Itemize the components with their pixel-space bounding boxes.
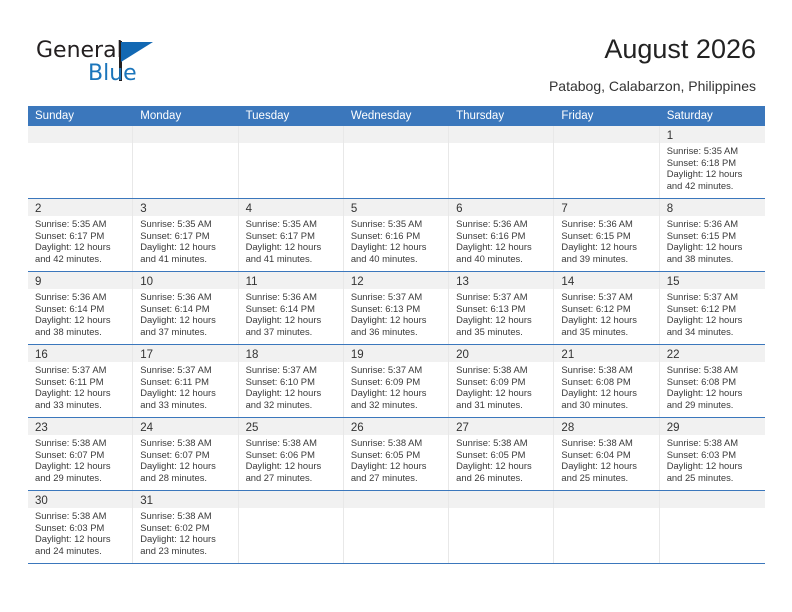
daylight-text: Daylight: 12 hours and 24 minutes. [35,533,127,556]
daylight-text: Daylight: 12 hours and 23 minutes. [140,533,232,556]
sunrise-text: Sunrise: 5:36 AM [561,218,653,230]
sunset-text: Sunset: 6:06 PM [246,449,338,461]
day-details: Sunrise: 5:38 AMSunset: 6:04 PMDaylight:… [554,435,658,487]
sunset-text: Sunset: 6:17 PM [246,230,338,242]
sunrise-text: Sunrise: 5:37 AM [246,364,338,376]
calendar-empty-cell [239,491,344,563]
calendar-day-cell[interactable]: 28Sunrise: 5:38 AMSunset: 6:04 PMDayligh… [554,418,659,490]
day-number: 23 [35,422,48,434]
day-details: Sunrise: 5:35 AMSunset: 6:18 PMDaylight:… [660,143,765,195]
daylight-text: Daylight: 12 hours and 29 minutes. [35,460,127,483]
weekday-header-row: Sunday Monday Tuesday Wednesday Thursday… [28,106,765,126]
calendar-week-row: 30Sunrise: 5:38 AMSunset: 6:03 PMDayligh… [28,491,765,564]
calendar-day-cell[interactable]: 30Sunrise: 5:38 AMSunset: 6:03 PMDayligh… [28,491,133,563]
day-details: Sunrise: 5:37 AMSunset: 6:11 PMDaylight:… [28,362,132,414]
calendar-day-cell[interactable]: 20Sunrise: 5:38 AMSunset: 6:09 PMDayligh… [449,345,554,417]
sunset-text: Sunset: 6:09 PM [456,376,548,388]
logo-text-general: General [36,38,123,63]
weekday-header-friday: Friday [554,106,659,126]
day-number: 6 [456,203,462,215]
day-number: 16 [35,349,48,361]
calendar-week-row: 2Sunrise: 5:35 AMSunset: 6:17 PMDaylight… [28,199,765,272]
sunset-text: Sunset: 6:11 PM [35,376,127,388]
sunrise-text: Sunrise: 5:38 AM [351,437,443,449]
daylight-text: Daylight: 12 hours and 32 minutes. [246,387,338,410]
general-blue-logo[interactable]: General Blue [36,38,216,90]
calendar-day-cell[interactable]: 5Sunrise: 5:35 AMSunset: 6:16 PMDaylight… [344,199,449,271]
daylight-text: Daylight: 12 hours and 35 minutes. [561,314,653,337]
day-details: Sunrise: 5:36 AMSunset: 6:14 PMDaylight:… [239,289,343,341]
sunset-text: Sunset: 6:12 PM [561,303,653,315]
day-number: 19 [351,349,364,361]
daylight-text: Daylight: 12 hours and 42 minutes. [667,168,760,191]
day-details: Sunrise: 5:36 AMSunset: 6:14 PMDaylight:… [133,289,237,341]
day-number: 12 [351,276,364,288]
daylight-text: Daylight: 12 hours and 38 minutes. [667,241,760,264]
sunrise-text: Sunrise: 5:38 AM [667,364,760,376]
day-number: 14 [561,276,574,288]
day-details: Sunrise: 5:38 AMSunset: 6:02 PMDaylight:… [133,508,237,560]
day-details: Sunrise: 5:38 AMSunset: 6:05 PMDaylight:… [344,435,448,487]
day-number-strip [239,491,343,508]
daylight-text: Daylight: 12 hours and 40 minutes. [351,241,443,264]
day-number: 15 [667,276,680,288]
day-number: 30 [35,495,48,507]
day-number: 4 [246,203,252,215]
day-number: 3 [140,203,146,215]
day-number-strip: 18 [239,345,343,362]
sunset-text: Sunset: 6:02 PM [140,522,232,534]
sunrise-text: Sunrise: 5:37 AM [667,291,760,303]
day-details: Sunrise: 5:38 AMSunset: 6:09 PMDaylight:… [449,362,553,414]
day-number-strip: 22 [660,345,765,362]
day-number-strip [554,491,658,508]
sunrise-text: Sunrise: 5:38 AM [456,437,548,449]
sunset-text: Sunset: 6:14 PM [246,303,338,315]
sunset-text: Sunset: 6:08 PM [561,376,653,388]
daylight-text: Daylight: 12 hours and 31 minutes. [456,387,548,410]
calendar-empty-cell [344,126,449,198]
day-number-strip [239,126,343,143]
day-number: 31 [140,495,153,507]
daylight-text: Daylight: 12 hours and 25 minutes. [561,460,653,483]
daylight-text: Daylight: 12 hours and 32 minutes. [351,387,443,410]
calendar-day-cell[interactable]: 23Sunrise: 5:38 AMSunset: 6:07 PMDayligh… [28,418,133,490]
day-number-strip [449,126,553,143]
calendar-day-cell[interactable]: 3Sunrise: 5:35 AMSunset: 6:17 PMDaylight… [133,199,238,271]
sunset-text: Sunset: 6:12 PM [667,303,760,315]
calendar-day-cell[interactable]: 12Sunrise: 5:37 AMSunset: 6:13 PMDayligh… [344,272,449,344]
sunset-text: Sunset: 6:04 PM [561,449,653,461]
day-details: Sunrise: 5:38 AMSunset: 6:07 PMDaylight:… [28,435,132,487]
daylight-text: Daylight: 12 hours and 41 minutes. [140,241,232,264]
sunrise-text: Sunrise: 5:38 AM [561,437,653,449]
sunset-text: Sunset: 6:11 PM [140,376,232,388]
daylight-text: Daylight: 12 hours and 40 minutes. [456,241,548,264]
sunset-text: Sunset: 6:03 PM [35,522,127,534]
sunrise-text: Sunrise: 5:36 AM [35,291,127,303]
day-number-strip: 14 [554,272,658,289]
day-details: Sunrise: 5:38 AMSunset: 6:03 PMDaylight:… [28,508,132,560]
day-number: 21 [561,349,574,361]
daylight-text: Daylight: 12 hours and 37 minutes. [246,314,338,337]
day-number-strip [344,126,448,143]
day-details: Sunrise: 5:38 AMSunset: 6:08 PMDaylight:… [554,362,658,414]
sunrise-text: Sunrise: 5:36 AM [140,291,232,303]
day-number-strip: 25 [239,418,343,435]
sunset-text: Sunset: 6:15 PM [667,230,760,242]
day-number-strip: 27 [449,418,553,435]
day-number-strip: 7 [554,199,658,216]
weekday-header-thursday: Thursday [449,106,554,126]
sunrise-text: Sunrise: 5:37 AM [561,291,653,303]
day-number-strip [449,491,553,508]
day-number: 22 [667,349,680,361]
sunrise-text: Sunrise: 5:35 AM [35,218,127,230]
calendar-week-row: 23Sunrise: 5:38 AMSunset: 6:07 PMDayligh… [28,418,765,491]
day-details: Sunrise: 5:35 AMSunset: 6:16 PMDaylight:… [344,216,448,268]
day-details: Sunrise: 5:37 AMSunset: 6:12 PMDaylight:… [554,289,658,341]
calendar-day-cell[interactable]: 6Sunrise: 5:36 AMSunset: 6:16 PMDaylight… [449,199,554,271]
daylight-text: Daylight: 12 hours and 27 minutes. [351,460,443,483]
calendar-day-cell[interactable]: 25Sunrise: 5:38 AMSunset: 6:06 PMDayligh… [239,418,344,490]
calendar-day-cell[interactable]: 10Sunrise: 5:36 AMSunset: 6:14 PMDayligh… [133,272,238,344]
sunset-text: Sunset: 6:09 PM [351,376,443,388]
day-details: Sunrise: 5:36 AMSunset: 6:16 PMDaylight:… [449,216,553,268]
day-number-strip [344,491,448,508]
daylight-text: Daylight: 12 hours and 27 minutes. [246,460,338,483]
calendar-day-cell[interactable]: 13Sunrise: 5:37 AMSunset: 6:13 PMDayligh… [449,272,554,344]
day-number-strip [554,126,658,143]
calendar-day-cell[interactable]: 8Sunrise: 5:36 AMSunset: 6:15 PMDaylight… [660,199,765,271]
daylight-text: Daylight: 12 hours and 30 minutes. [561,387,653,410]
sunrise-text: Sunrise: 5:38 AM [667,437,760,449]
sunset-text: Sunset: 6:05 PM [456,449,548,461]
weekday-header-wednesday: Wednesday [344,106,449,126]
page-title: August 2026 [604,34,756,65]
sunset-text: Sunset: 6:14 PM [35,303,127,315]
day-number-strip: 5 [344,199,448,216]
day-number: 1 [667,130,673,142]
daylight-text: Daylight: 12 hours and 29 minutes. [667,387,760,410]
sunset-text: Sunset: 6:08 PM [667,376,760,388]
day-details: Sunrise: 5:36 AMSunset: 6:14 PMDaylight:… [28,289,132,341]
day-number-strip: 19 [344,345,448,362]
calendar-day-cell[interactable]: 24Sunrise: 5:38 AMSunset: 6:07 PMDayligh… [133,418,238,490]
daylight-text: Daylight: 12 hours and 25 minutes. [667,460,760,483]
weekday-header-monday: Monday [133,106,238,126]
day-number: 18 [246,349,259,361]
calendar-day-cell[interactable]: 26Sunrise: 5:38 AMSunset: 6:05 PMDayligh… [344,418,449,490]
day-number: 26 [351,422,364,434]
calendar-empty-cell [239,126,344,198]
calendar-day-cell[interactable]: 15Sunrise: 5:37 AMSunset: 6:12 PMDayligh… [660,272,765,344]
sunrise-text: Sunrise: 5:38 AM [246,437,338,449]
calendar-day-cell[interactable]: 21Sunrise: 5:38 AMSunset: 6:08 PMDayligh… [554,345,659,417]
calendar-page: General Blue August 2026 Patabog, Calaba… [0,0,792,612]
calendar-day-cell[interactable]: 9Sunrise: 5:36 AMSunset: 6:14 PMDaylight… [28,272,133,344]
day-details: Sunrise: 5:36 AMSunset: 6:15 PMDaylight:… [660,216,765,268]
day-details: Sunrise: 5:38 AMSunset: 6:05 PMDaylight:… [449,435,553,487]
daylight-text: Daylight: 12 hours and 34 minutes. [667,314,760,337]
calendar-day-cell[interactable]: 4Sunrise: 5:35 AMSunset: 6:17 PMDaylight… [239,199,344,271]
day-number-strip [660,491,765,508]
calendar-day-cell[interactable]: 11Sunrise: 5:36 AMSunset: 6:14 PMDayligh… [239,272,344,344]
day-number-strip: 23 [28,418,132,435]
day-number-strip: 12 [344,272,448,289]
calendar-day-cell[interactable]: 1Sunrise: 5:35 AMSunset: 6:18 PMDaylight… [660,126,765,198]
day-number-strip [133,126,237,143]
day-number-strip: 6 [449,199,553,216]
day-number: 20 [456,349,469,361]
blue-triangle-flag-icon [121,42,153,62]
day-number: 8 [667,203,673,215]
day-number-strip: 4 [239,199,343,216]
sunrise-text: Sunrise: 5:36 AM [246,291,338,303]
sunrise-text: Sunrise: 5:38 AM [140,437,232,449]
day-details: Sunrise: 5:37 AMSunset: 6:13 PMDaylight:… [344,289,448,341]
daylight-text: Daylight: 12 hours and 28 minutes. [140,460,232,483]
day-number-strip: 13 [449,272,553,289]
calendar-week-row: 9Sunrise: 5:36 AMSunset: 6:14 PMDaylight… [28,272,765,345]
calendar-empty-cell [28,126,133,198]
day-number-strip: 17 [133,345,237,362]
sunset-text: Sunset: 6:14 PM [140,303,232,315]
day-number: 11 [246,276,258,288]
calendar-table: Sunday Monday Tuesday Wednesday Thursday… [28,106,765,564]
calendar-empty-cell [449,491,554,563]
sunset-text: Sunset: 6:10 PM [246,376,338,388]
sunrise-text: Sunrise: 5:35 AM [246,218,338,230]
day-number: 13 [456,276,469,288]
day-number: 27 [456,422,469,434]
day-number-strip [28,126,132,143]
sunrise-text: Sunrise: 5:37 AM [140,364,232,376]
logo-text-blue: Blue [88,61,137,86]
calendar-day-cell[interactable]: 14Sunrise: 5:37 AMSunset: 6:12 PMDayligh… [554,272,659,344]
page-header: General Blue August 2026 Patabog, Calaba… [0,0,792,100]
day-number-strip: 16 [28,345,132,362]
daylight-text: Daylight: 12 hours and 36 minutes. [351,314,443,337]
daylight-text: Daylight: 12 hours and 42 minutes. [35,241,127,264]
calendar-empty-cell [554,126,659,198]
weekday-header-saturday: Saturday [660,106,765,126]
day-details: Sunrise: 5:38 AMSunset: 6:07 PMDaylight:… [133,435,237,487]
day-number-strip: 15 [660,272,765,289]
day-details: Sunrise: 5:37 AMSunset: 6:13 PMDaylight:… [449,289,553,341]
calendar-empty-cell [133,126,238,198]
daylight-text: Daylight: 12 hours and 39 minutes. [561,241,653,264]
calendar-week-row: 16Sunrise: 5:37 AMSunset: 6:11 PMDayligh… [28,345,765,418]
day-number-strip: 1 [660,126,765,143]
calendar-empty-cell [660,491,765,563]
calendar-day-cell[interactable]: 29Sunrise: 5:38 AMSunset: 6:03 PMDayligh… [660,418,765,490]
sunrise-text: Sunrise: 5:38 AM [456,364,548,376]
day-number: 17 [140,349,153,361]
sunrise-text: Sunrise: 5:38 AM [561,364,653,376]
day-number-strip: 11 [239,272,343,289]
sunrise-text: Sunrise: 5:38 AM [140,510,232,522]
calendar-day-cell[interactable]: 18Sunrise: 5:37 AMSunset: 6:10 PMDayligh… [239,345,344,417]
sunrise-text: Sunrise: 5:37 AM [351,364,443,376]
weekday-header-tuesday: Tuesday [239,106,344,126]
day-number-strip: 10 [133,272,237,289]
sunrise-text: Sunrise: 5:35 AM [351,218,443,230]
calendar-day-cell[interactable]: 31Sunrise: 5:38 AMSunset: 6:02 PMDayligh… [133,491,238,563]
sunrise-text: Sunrise: 5:37 AM [351,291,443,303]
sunrise-text: Sunrise: 5:38 AM [35,437,127,449]
page-subtitle-location: Patabog, Calabarzon, Philippines [549,78,756,94]
daylight-text: Daylight: 12 hours and 26 minutes. [456,460,548,483]
calendar-weeks: 1Sunrise: 5:35 AMSunset: 6:18 PMDaylight… [28,126,765,564]
day-details: Sunrise: 5:37 AMSunset: 6:11 PMDaylight:… [133,362,237,414]
daylight-text: Daylight: 12 hours and 37 minutes. [140,314,232,337]
sunset-text: Sunset: 6:15 PM [561,230,653,242]
day-number-strip: 31 [133,491,237,508]
calendar-day-cell[interactable]: 19Sunrise: 5:37 AMSunset: 6:09 PMDayligh… [344,345,449,417]
sunset-text: Sunset: 6:16 PM [456,230,548,242]
calendar-day-cell[interactable]: 22Sunrise: 5:38 AMSunset: 6:08 PMDayligh… [660,345,765,417]
day-details: Sunrise: 5:38 AMSunset: 6:03 PMDaylight:… [660,435,765,487]
day-number-strip: 3 [133,199,237,216]
daylight-text: Daylight: 12 hours and 33 minutes. [140,387,232,410]
day-details: Sunrise: 5:35 AMSunset: 6:17 PMDaylight:… [133,216,237,268]
sunset-text: Sunset: 6:17 PM [140,230,232,242]
day-number: 25 [246,422,259,434]
sunset-text: Sunset: 6:17 PM [35,230,127,242]
daylight-text: Daylight: 12 hours and 38 minutes. [35,314,127,337]
day-number: 7 [561,203,567,215]
sunset-text: Sunset: 6:18 PM [667,157,760,169]
daylight-text: Daylight: 12 hours and 33 minutes. [35,387,127,410]
sunrise-text: Sunrise: 5:35 AM [667,145,760,157]
day-number-strip: 30 [28,491,132,508]
sunset-text: Sunset: 6:13 PM [351,303,443,315]
sunset-text: Sunset: 6:16 PM [351,230,443,242]
day-number-strip: 21 [554,345,658,362]
day-number-strip: 24 [133,418,237,435]
calendar-empty-cell [554,491,659,563]
day-number: 10 [140,276,153,288]
day-number: 2 [35,203,41,215]
sunrise-text: Sunrise: 5:36 AM [667,218,760,230]
day-number-strip: 20 [449,345,553,362]
calendar-empty-cell [344,491,449,563]
day-number-strip: 2 [28,199,132,216]
day-details: Sunrise: 5:37 AMSunset: 6:09 PMDaylight:… [344,362,448,414]
day-number: 29 [667,422,680,434]
day-number: 5 [351,203,357,215]
daylight-text: Daylight: 12 hours and 41 minutes. [246,241,338,264]
sunset-text: Sunset: 6:03 PM [667,449,760,461]
day-details: Sunrise: 5:36 AMSunset: 6:15 PMDaylight:… [554,216,658,268]
day-number-strip: 8 [660,199,765,216]
sunrise-text: Sunrise: 5:36 AM [456,218,548,230]
day-number: 24 [140,422,153,434]
day-details: Sunrise: 5:35 AMSunset: 6:17 PMDaylight:… [239,216,343,268]
sunrise-text: Sunrise: 5:35 AM [140,218,232,230]
day-number-strip: 26 [344,418,448,435]
day-number-strip: 28 [554,418,658,435]
sunset-text: Sunset: 6:05 PM [351,449,443,461]
day-details: Sunrise: 5:37 AMSunset: 6:10 PMDaylight:… [239,362,343,414]
day-number: 28 [561,422,574,434]
day-number-strip: 9 [28,272,132,289]
daylight-text: Daylight: 12 hours and 35 minutes. [456,314,548,337]
calendar-empty-cell [449,126,554,198]
weekday-header-sunday: Sunday [28,106,133,126]
day-details: Sunrise: 5:38 AMSunset: 6:08 PMDaylight:… [660,362,765,414]
calendar-day-cell[interactable]: 17Sunrise: 5:37 AMSunset: 6:11 PMDayligh… [133,345,238,417]
sunrise-text: Sunrise: 5:37 AM [35,364,127,376]
day-details: Sunrise: 5:38 AMSunset: 6:06 PMDaylight:… [239,435,343,487]
day-details: Sunrise: 5:35 AMSunset: 6:17 PMDaylight:… [28,216,132,268]
calendar-day-cell[interactable]: 27Sunrise: 5:38 AMSunset: 6:05 PMDayligh… [449,418,554,490]
calendar-day-cell[interactable]: 2Sunrise: 5:35 AMSunset: 6:17 PMDaylight… [28,199,133,271]
calendar-day-cell[interactable]: 16Sunrise: 5:37 AMSunset: 6:11 PMDayligh… [28,345,133,417]
calendar-week-row: 1Sunrise: 5:35 AMSunset: 6:18 PMDaylight… [28,126,765,199]
day-number-strip: 29 [660,418,765,435]
sunset-text: Sunset: 6:07 PM [140,449,232,461]
sunset-text: Sunset: 6:13 PM [456,303,548,315]
calendar-day-cell[interactable]: 7Sunrise: 5:36 AMSunset: 6:15 PMDaylight… [554,199,659,271]
day-number: 9 [35,276,41,288]
sunrise-text: Sunrise: 5:38 AM [35,510,127,522]
sunrise-text: Sunrise: 5:37 AM [456,291,548,303]
sunset-text: Sunset: 6:07 PM [35,449,127,461]
day-details: Sunrise: 5:37 AMSunset: 6:12 PMDaylight:… [660,289,765,341]
